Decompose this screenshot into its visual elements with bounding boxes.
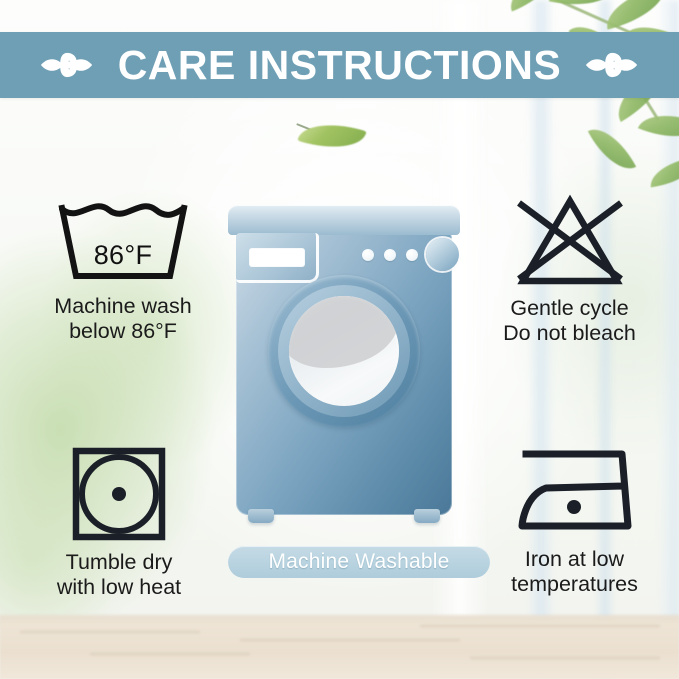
machine-display — [250, 249, 304, 266]
wash-basin-icon-box: 86°F — [48, 196, 198, 288]
instruction-tumble-dry: Tumble dry with low heat — [8, 444, 230, 600]
instruction-label-do-not-bleach: Gentle cycle Do not bleach — [503, 296, 636, 346]
header-banner: CARE INSTRUCTIONS — [0, 32, 679, 98]
machine-control-panel — [236, 233, 319, 283]
wood-grain — [470, 657, 660, 659]
washing-machine-illustration — [228, 205, 460, 535]
instruction-iron-low: Iron at low temperatures — [470, 444, 679, 597]
machine-door-inner-ring — [278, 285, 410, 417]
wash-temperature-value: 86°F — [48, 240, 198, 271]
machine-foot — [414, 509, 440, 523]
instruction-label-iron-low: Iron at low temperatures — [511, 547, 638, 597]
wood-grain — [20, 631, 200, 633]
instruction-label-tumble-dry: Tumble dry with low heat — [57, 550, 181, 600]
fleur-de-lis-icon — [583, 43, 641, 87]
wood-table-surface — [0, 613, 679, 679]
machine-washable-badge: Machine Washable — [228, 546, 490, 578]
no-bleach-icon-box — [511, 193, 629, 290]
wood-grain — [90, 653, 250, 655]
machine-program-knob[interactable] — [426, 238, 459, 271]
fleur-de-lis-icon — [38, 43, 96, 87]
iron-icon-box — [508, 444, 642, 541]
machine-indicator-dot[interactable] — [384, 249, 396, 261]
instruction-machine-wash: 86°F Machine wash below 86°F — [8, 196, 238, 344]
page-title: CARE INSTRUCTIONS — [118, 45, 562, 86]
machine-indicator-dot[interactable] — [406, 249, 418, 261]
instruction-label-machine-wash: Machine wash below 86°F — [54, 294, 191, 344]
wood-grain — [240, 639, 460, 641]
machine-door-glass[interactable] — [289, 296, 399, 406]
iron-low-icon — [508, 444, 642, 541]
care-instructions-infographic: CARE INSTRUCTIONS 86°F Machine wash belo… — [0, 0, 679, 679]
leaf-icon — [648, 157, 679, 188]
machine-indicator-dot[interactable] — [362, 249, 374, 261]
leaf-cluster — [499, 0, 679, 196]
no-bleach-triangle-icon — [511, 193, 629, 290]
leaf-icon — [588, 119, 636, 179]
instruction-do-not-bleach: Gentle cycle Do not bleach — [462, 193, 677, 346]
leaf-icon — [638, 102, 679, 150]
machine-door-outer-ring — [268, 275, 420, 427]
machine-foot — [248, 509, 274, 523]
leaf-icon — [600, 0, 671, 30]
machine-top-lid — [228, 205, 460, 235]
wood-grain — [420, 625, 660, 627]
tumble-dry-low-icon — [69, 444, 169, 544]
machine-washable-label: Machine Washable — [268, 550, 449, 574]
tumble-dry-icon-box — [69, 444, 169, 544]
machine-door-shadow — [289, 296, 399, 368]
